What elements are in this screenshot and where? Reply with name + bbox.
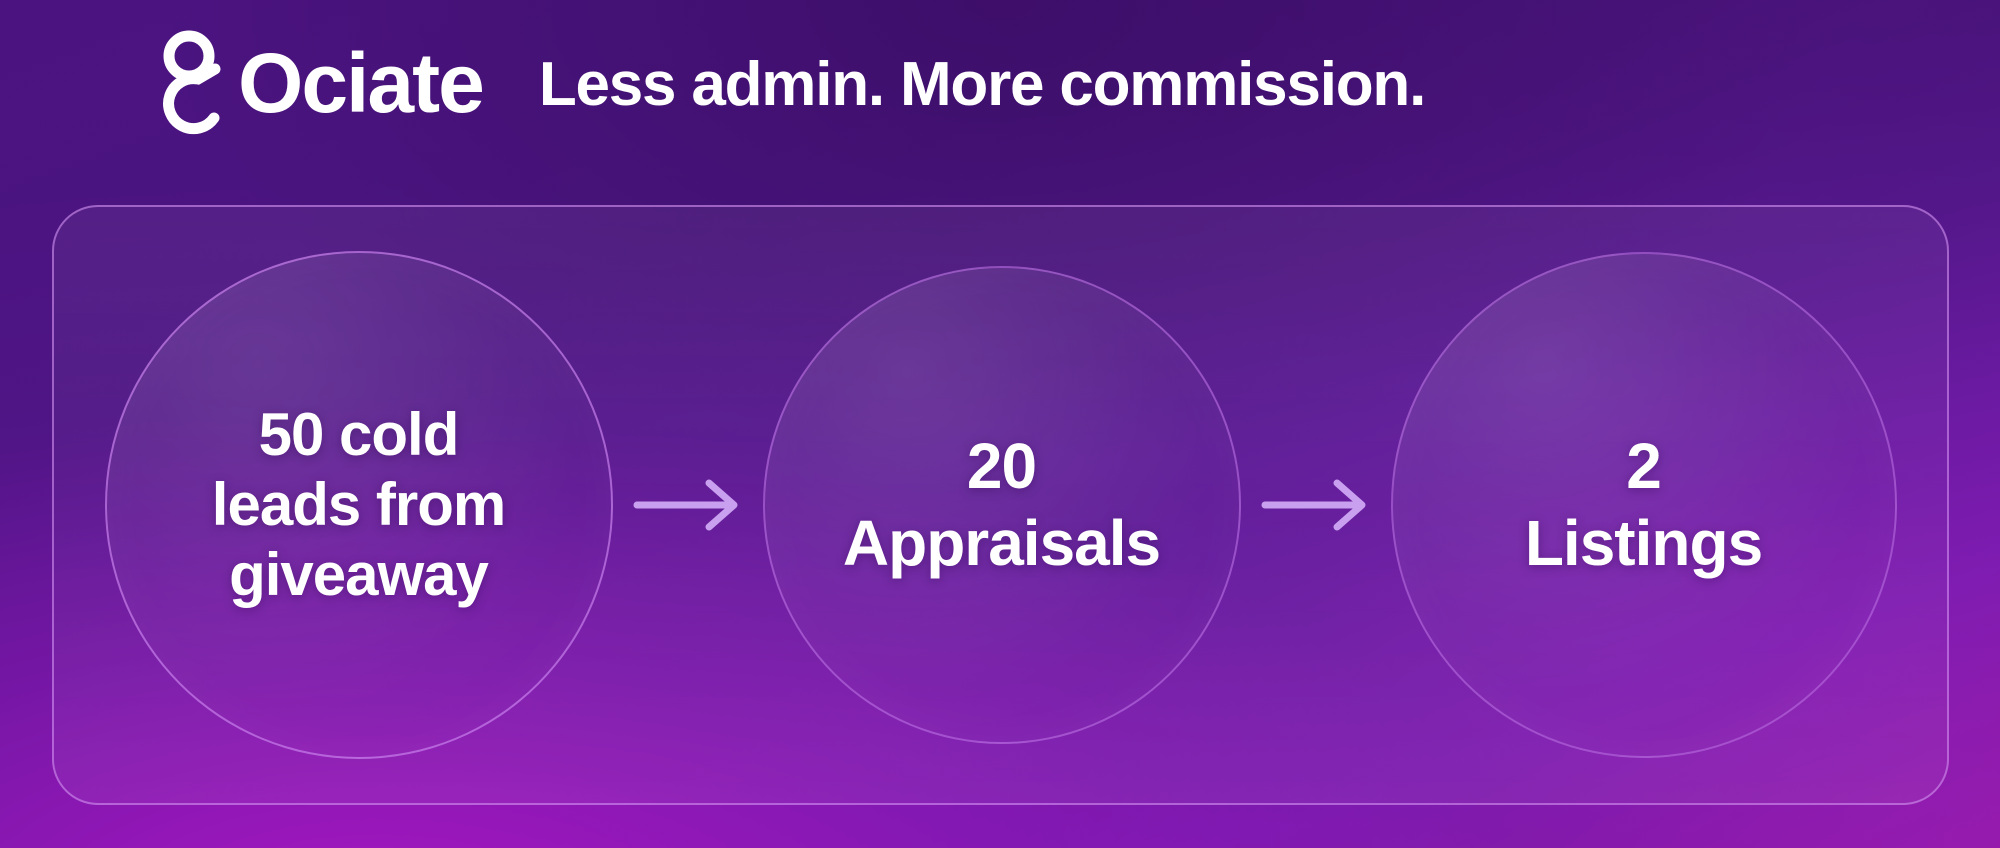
funnel-connector-1: [613, 473, 763, 537]
arrow-right-icon: [1261, 478, 1371, 532]
funnel-card: 50 cold leads from giveaway 20 Appraisal…: [52, 205, 1949, 805]
arrow-right-icon: [633, 478, 743, 532]
brand-name: Ociate: [238, 41, 483, 125]
funnel-step-leads-label: 50 cold leads from giveaway: [184, 400, 533, 611]
header: Ociate Less admin. More commission.: [158, 30, 1425, 136]
funnel-row: 50 cold leads from giveaway 20 Appraisal…: [54, 207, 1947, 803]
funnel-step-appraisals-label: 20 Appraisals: [815, 428, 1188, 582]
ociate-ampersand-mark-icon: [158, 30, 222, 136]
funnel-step-listings-label: 2 Listings: [1497, 428, 1790, 582]
funnel-step-leads[interactable]: 50 cold leads from giveaway: [105, 251, 613, 759]
brand-logo[interactable]: Ociate: [158, 30, 483, 136]
funnel-step-listings[interactable]: 2 Listings: [1391, 252, 1897, 758]
funnel-step-appraisals[interactable]: 20 Appraisals: [763, 266, 1241, 744]
tagline: Less admin. More commission.: [539, 54, 1425, 116]
funnel-connector-2: [1241, 473, 1391, 537]
